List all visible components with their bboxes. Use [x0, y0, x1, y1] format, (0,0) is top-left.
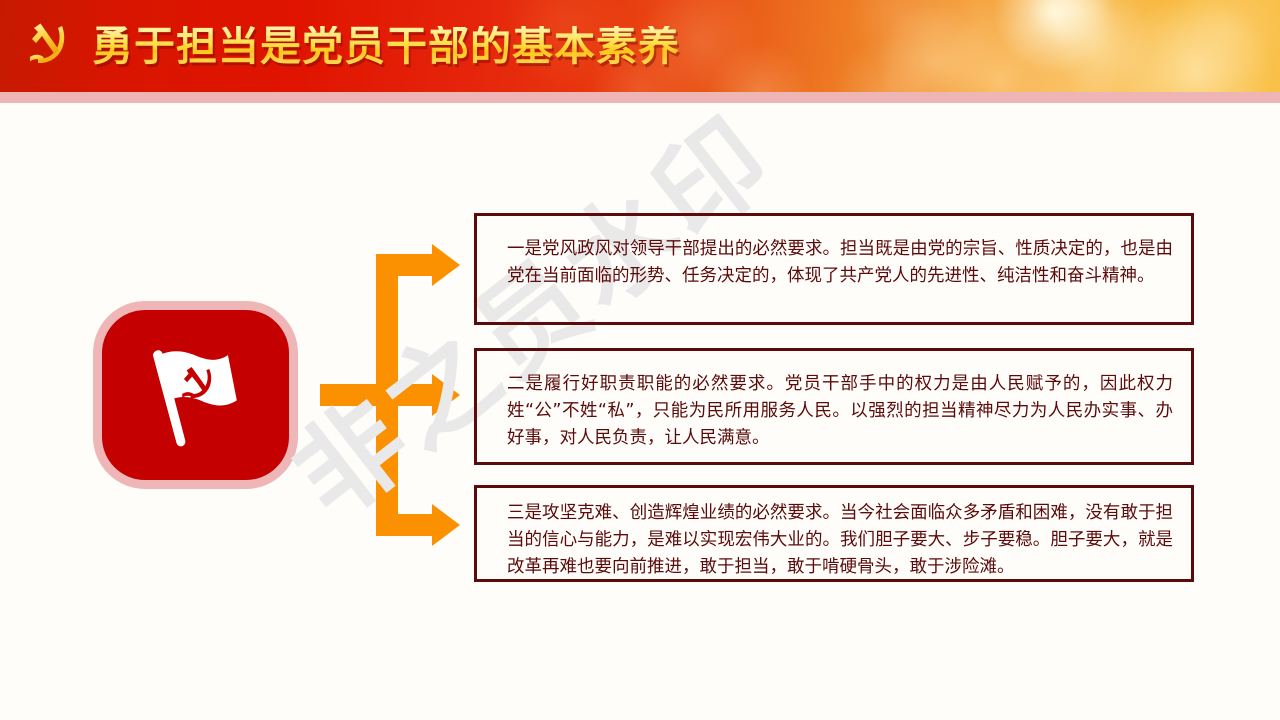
point-box-3: 三是攻坚克难、创造辉煌业绩的必然要求。当今社会面临众多矛盾和困难，没有敢于担当的… — [474, 485, 1194, 582]
header-divider — [0, 92, 1280, 103]
hammer-and-sickle-icon — [22, 21, 74, 71]
header-banner: 勇于担当是党员干部的基本素养 — [0, 0, 1280, 92]
point-text-3: 三是攻坚克难、创造辉煌业绩的必然要求。当今社会面临众多矛盾和困难，没有敢于担当的… — [507, 500, 1173, 581]
point-box-1: 一是党风政风对领导干部提出的必然要求。担当既是由党的宗旨、性质决定的，也是由党在… — [474, 213, 1194, 325]
point-text-1: 一是党风政风对领导干部提出的必然要求。担当既是由党的宗旨、性质决定的，也是由党在… — [507, 236, 1173, 290]
slide-root: 勇于担当是党员干部的基本素养 非之员水印 — [0, 0, 1280, 720]
point-text-2: 二是履行好职责职能的必然要求。党员干部手中的权力是由人民赋予的，因此权力姓“公”… — [507, 371, 1173, 452]
page-title: 勇于担当是党员干部的基本素养 — [92, 26, 680, 67]
party-flag-icon — [137, 336, 255, 454]
bracket-arrows-icon — [310, 240, 490, 570]
header-content: 勇于担当是党员干部的基本素养 — [0, 0, 1280, 92]
point-box-2: 二是履行好职责职能的必然要求。党员干部手中的权力是由人民赋予的，因此权力姓“公”… — [474, 348, 1194, 465]
party-flag-tile — [93, 301, 298, 489]
